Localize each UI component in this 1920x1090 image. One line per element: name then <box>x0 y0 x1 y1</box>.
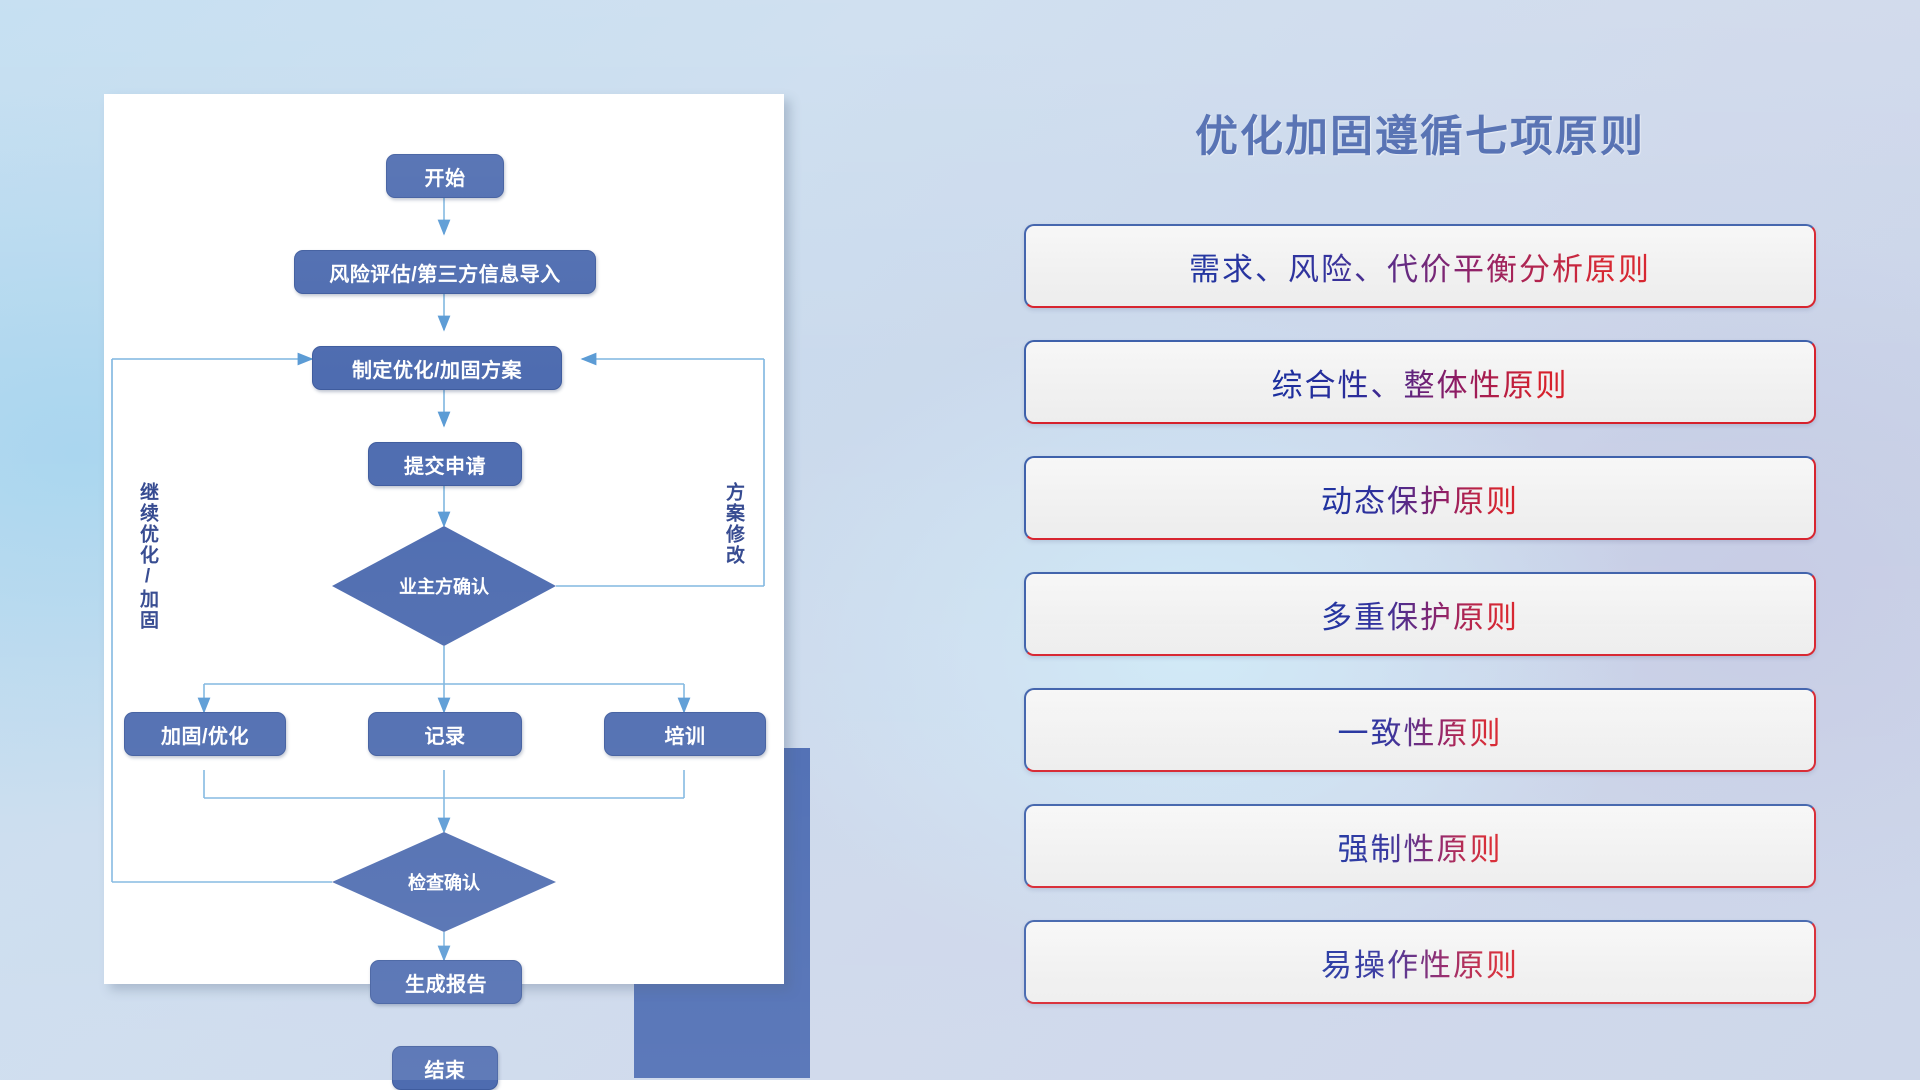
flow-node-label: 加固/优化 <box>161 720 249 749</box>
principle-label: 综合性、整体性原则 <box>1272 360 1569 405</box>
principle-label: 多重保护原则 <box>1321 592 1519 637</box>
principles-list: 需求、风险、代价平衡分析原则 综合性、整体性原则 动态保护原则 多重保护原则 一… <box>1024 224 1816 1036</box>
principle-label: 强制性原则 <box>1338 824 1503 869</box>
flowchart-card: 开始 风险评估/第三方信息导入 制定优化/加固方案 提交申请 业主方确认 加固/… <box>104 94 784 984</box>
principle-card[interactable]: 动态保护原则 <box>1024 456 1816 540</box>
flow-node-report[interactable]: 生成报告 <box>370 960 522 1004</box>
flow-node-label: 结束 <box>425 1054 466 1083</box>
flow-node-start[interactable]: 开始 <box>386 154 504 198</box>
flow-edge-label-left-loop: 继续优化/加固 <box>134 482 161 631</box>
flow-node-risk-assessment[interactable]: 风险评估/第三方信息导入 <box>294 250 596 294</box>
principle-label: 易操作性原则 <box>1321 940 1519 985</box>
flow-node-reinforce[interactable]: 加固/优化 <box>124 712 286 756</box>
flow-node-label: 生成报告 <box>405 968 487 997</box>
flow-node-submit[interactable]: 提交申请 <box>368 442 522 486</box>
principle-card[interactable]: 需求、风险、代价平衡分析原则 <box>1024 224 1816 308</box>
flow-node-label: 业主方确认 <box>399 573 489 599</box>
principles-title: 优化加固遵循七项原则 <box>1020 102 1820 164</box>
flow-node-record[interactable]: 记录 <box>368 712 522 756</box>
slide-canvas: 开始 风险评估/第三方信息导入 制定优化/加固方案 提交申请 业主方确认 加固/… <box>0 0 1920 1080</box>
principle-card[interactable]: 易操作性原则 <box>1024 920 1816 1004</box>
flow-node-label: 培训 <box>665 720 706 749</box>
principle-label: 动态保护原则 <box>1321 476 1519 521</box>
principle-card[interactable]: 综合性、整体性原则 <box>1024 340 1816 424</box>
flow-node-label: 开始 <box>425 162 466 191</box>
flow-node-label: 记录 <box>425 720 466 749</box>
flow-node-plan[interactable]: 制定优化/加固方案 <box>312 346 562 390</box>
flow-node-training[interactable]: 培训 <box>604 712 766 756</box>
flow-node-label: 提交申请 <box>404 450 486 479</box>
flow-node-end[interactable]: 结束 <box>392 1046 498 1090</box>
principle-card[interactable]: 多重保护原则 <box>1024 572 1816 656</box>
principles-panel: 优化加固遵循七项原则 需求、风险、代价平衡分析原则 综合性、整体性原则 动态保护… <box>1020 84 1820 1004</box>
flowchart-panel: 开始 风险评估/第三方信息导入 制定优化/加固方案 提交申请 业主方确认 加固/… <box>104 94 784 984</box>
flow-node-label: 制定优化/加固方案 <box>352 354 522 383</box>
flow-node-label: 检查确认 <box>408 869 480 895</box>
principle-label: 需求、风险、代价平衡分析原则 <box>1189 244 1651 289</box>
principle-card[interactable]: 一致性原则 <box>1024 688 1816 772</box>
principle-card[interactable]: 强制性原则 <box>1024 804 1816 888</box>
principle-label: 一致性原则 <box>1338 708 1503 753</box>
flow-node-label: 风险评估/第三方信息导入 <box>329 258 561 287</box>
flow-edge-label-right-loop: 方案修改 <box>720 482 747 566</box>
